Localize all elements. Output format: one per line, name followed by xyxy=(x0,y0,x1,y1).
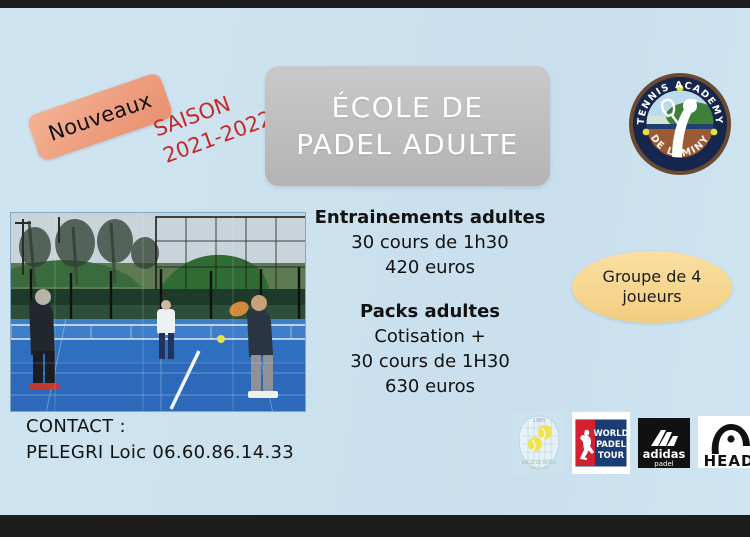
sponsor-adidas-padel: adidas padel xyxy=(636,412,692,474)
contact-block: CONTACT : PELEGRI Loic 06.60.86.14.33 xyxy=(26,414,294,466)
letterbox-bottom xyxy=(0,515,750,537)
adidas-wordmark: adidas xyxy=(643,447,686,461)
adidas-padel-sub: padel xyxy=(654,460,673,468)
sponsor-head: HEAD xyxy=(698,412,750,474)
title-box: ÉCOLE DE PADEL ADULTE xyxy=(265,66,550,186)
contact-details: PELEGRI Loic 06.60.86.14.33 xyxy=(26,440,294,466)
club-crest-sub2: MARSEILLE xyxy=(530,466,549,470)
group-callout-line-1: Groupe de 4 xyxy=(603,267,702,287)
adidas-padel-logo: adidas padel xyxy=(636,412,692,474)
offer-1-line-2: 630 euros xyxy=(300,375,560,400)
sponsor-club-crest: 1985 BALLE DE MATCH MARSEILLE xyxy=(512,412,566,474)
wpt-line-1: WORLD xyxy=(593,428,628,438)
wpt-line-3: TOUR xyxy=(598,450,625,460)
offer-0-heading: Entrainements adultes xyxy=(300,206,560,231)
nouveaux-badge-label: Nouveaux xyxy=(45,88,154,146)
offers-spacer xyxy=(300,280,560,300)
club-crest-year: 1985 xyxy=(533,418,546,424)
slide-root: Nouveaux SAISON 2021-2022 ÉCOLE DE PADEL… xyxy=(0,0,750,537)
tennis-academy-luminy-logo: TENNIS ACADEMY DE LUMINY xyxy=(628,72,732,176)
offer-0-line-0: 30 cours de 1h30 xyxy=(300,231,560,256)
season-text: SAISON 2021-2022 xyxy=(150,79,277,170)
offer-0-line-1: 420 euros xyxy=(300,256,560,281)
title-line-2: PADEL ADULTE xyxy=(296,128,519,161)
offer-1-heading: Packs adultes xyxy=(300,300,560,325)
contact-label: CONTACT : xyxy=(26,414,294,440)
offer-1-line-0: Cotisation + xyxy=(300,325,560,350)
head-wordmark: HEAD xyxy=(704,452,750,470)
wpt-line-2: PADEL xyxy=(596,439,627,449)
sponsor-world-padel-tour: WORLD PADEL TOUR xyxy=(572,412,630,474)
world-padel-tour-logo: WORLD PADEL TOUR xyxy=(572,412,630,474)
title-line-1: ÉCOLE DE xyxy=(332,91,484,124)
group-callout: Groupe de 4 joueurs xyxy=(572,251,732,323)
head-logo: HEAD xyxy=(698,412,750,474)
club-crest-icon: 1985 BALLE DE MATCH MARSEILLE xyxy=(512,412,566,474)
club-crest-sub1: BALLE DE MATCH xyxy=(522,460,557,465)
group-callout-line-2: joueurs xyxy=(622,287,681,307)
offers-block: Entrainements adultes 30 cours de 1h30 4… xyxy=(300,206,560,400)
offer-1-line-1: 30 cours de 1H30 xyxy=(300,350,560,375)
padel-court-photo xyxy=(10,212,306,412)
slide-canvas: Nouveaux SAISON 2021-2022 ÉCOLE DE PADEL… xyxy=(0,8,750,515)
court-photo-svg xyxy=(11,213,306,412)
letterbox-top xyxy=(0,0,750,8)
academy-logo-svg: TENNIS ACADEMY DE LUMINY xyxy=(628,72,732,176)
sponsor-strip: 1985 BALLE DE MATCH MARSEILLE xyxy=(512,412,750,474)
